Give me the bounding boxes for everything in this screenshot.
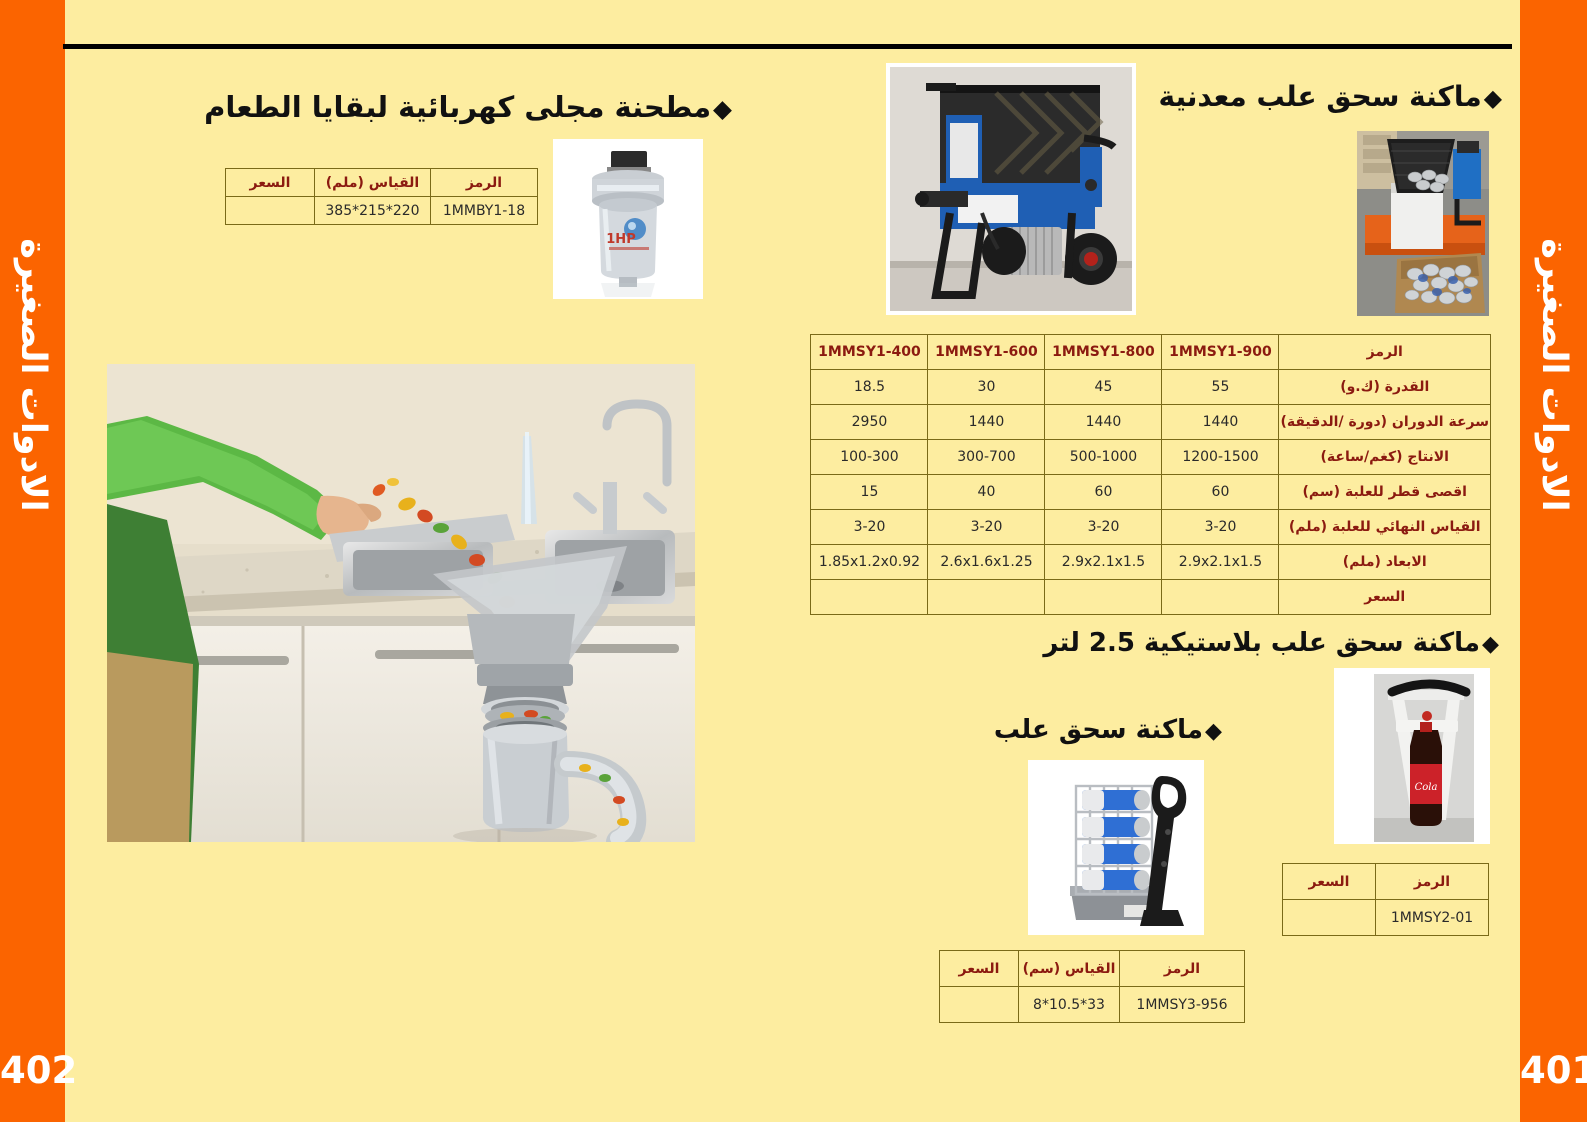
catalog-page: الادوات الصغيرة 402 الادوات الصغيرة 401 … xyxy=(0,0,1587,1122)
bullet-diamond-icon-3: ◆ xyxy=(1205,718,1222,744)
table-row: 1MMSY2-01 xyxy=(1283,900,1489,936)
bullet-diamond-icon-4: ◆ xyxy=(713,94,732,123)
table-row: الابعاد (ملم)2.9x2.1x1.52.9x2.1x1.52.6x1… xyxy=(811,545,1491,580)
row-label: القياس النهائي للعلبة (ملم) xyxy=(1279,510,1491,545)
table-cell: 500-1000 xyxy=(1045,440,1162,475)
row-label: القدرة (ك.و) xyxy=(1279,370,1491,405)
heading-plastic-bottle-crusher-text: ماكنة سحق علب بلاستيكية 2.5 لتر xyxy=(1043,628,1480,658)
table-header-row: الرمزالقياس (سم)السعر xyxy=(940,951,1245,987)
row-label: الانتاج (كغم/ساعة) xyxy=(1279,440,1491,475)
photo-can-crusher-manual xyxy=(1028,760,1204,935)
heading-can-crusher-manual: ◆ماكنة سحق علب xyxy=(994,715,1222,745)
table-cell xyxy=(940,987,1019,1023)
table-cell xyxy=(1162,580,1279,615)
table-cell: 300-700 xyxy=(928,440,1045,475)
column-header: الرمز xyxy=(431,169,538,197)
table-cell: 2950 xyxy=(811,405,928,440)
heading-food-waste-disposer-text: مطحنة مجلى كهربائية لبقايا الطعام xyxy=(204,90,711,124)
svg-text:1HP: 1HP xyxy=(606,232,635,247)
table-cell xyxy=(226,197,315,225)
photo-food-waste-disposer-unit: 1HP xyxy=(553,139,703,299)
table-cell: 1MMSY2-01 xyxy=(1376,900,1489,936)
column-header: 1MMSY1-900 xyxy=(1162,335,1279,370)
table-row: القياس النهائي للعلبة (ملم)3-203-203-203… xyxy=(811,510,1491,545)
table-cell xyxy=(811,580,928,615)
table-cell: 3-20 xyxy=(928,510,1045,545)
table-header-row: الرمزالسعر xyxy=(1283,864,1489,900)
heading-food-waste-disposer: ◆مطحنة مجلى كهربائية لبقايا الطعام xyxy=(204,90,732,124)
table-row: سرعة الدوران (دورة /الدقيقة)144014401440… xyxy=(811,405,1491,440)
table-cell: 1440 xyxy=(928,405,1045,440)
sidebar-category-label-right: الادوات الصغيرة xyxy=(1534,238,1574,511)
row-label: سرعة الدوران (دورة /الدقيقة) xyxy=(1279,405,1491,440)
column-header: 1MMSY1-800 xyxy=(1045,335,1162,370)
table-cell: 1MMSY3-956 xyxy=(1120,987,1245,1023)
column-header: القياس (سم) xyxy=(1019,951,1120,987)
column-header: القياس (ملم) xyxy=(315,169,431,197)
row-label: الرمز xyxy=(1279,335,1491,370)
table-cell: 30 xyxy=(928,370,1045,405)
svg-text:Cola: Cola xyxy=(1415,782,1438,793)
sidebar-category-label-left: الادوات الصغيرة xyxy=(13,238,53,511)
table-row: السعر xyxy=(811,580,1491,615)
table-cell: 60 xyxy=(1045,475,1162,510)
table-cell: 2.9x2.1x1.5 xyxy=(1162,545,1279,580)
table-plastic-bottle-crusher-specs: الرمزالسعر1MMSY2-01 xyxy=(1282,863,1489,936)
table-can-crusher-manual-specs: الرمزالقياس (سم)السعر1MMSY3-95633*10.5*8 xyxy=(939,950,1245,1023)
column-header: السعر xyxy=(226,169,315,197)
heading-can-crusher-manual-text: ماكنة سحق علب xyxy=(994,715,1203,745)
sidebar-right: الادوات الصغيرة 401 xyxy=(1520,0,1587,1122)
photo-crushed-cans-workshop xyxy=(1357,131,1489,316)
table-cell xyxy=(1045,580,1162,615)
table-cell: 1440 xyxy=(1045,405,1162,440)
table-cell: 55 xyxy=(1162,370,1279,405)
photo-metal-can-crusher-machine xyxy=(886,63,1136,315)
header-divider xyxy=(63,44,1512,49)
table-row: 1MMSY3-95633*10.5*8 xyxy=(940,987,1245,1023)
heading-metal-can-crusher-text: ماكنة سحق علب معدنية xyxy=(1159,80,1482,113)
table-cell: 3-20 xyxy=(1045,510,1162,545)
row-label: الابعاد (ملم) xyxy=(1279,545,1491,580)
column-header: 1MMSY1-400 xyxy=(811,335,928,370)
row-label: اقصى قطر للعلبة (سم) xyxy=(1279,475,1491,510)
table-row: القدرة (ك.و)55453018.5 xyxy=(811,370,1491,405)
table-cell: 3-20 xyxy=(1162,510,1279,545)
column-header: 1MMSY1-600 xyxy=(928,335,1045,370)
table-cell xyxy=(1283,900,1376,936)
table-cell: 18.5 xyxy=(811,370,928,405)
table-cell: 40 xyxy=(928,475,1045,510)
table-header-row: الرمزالقياس (ملم)السعر xyxy=(226,169,538,197)
column-header: الرمز xyxy=(1120,951,1245,987)
photo-kitchen-sink-disposer-installation xyxy=(107,364,695,842)
table-metal-can-crusher-specs: الرمز1MMSY1-9001MMSY1-8001MMSY1-6001MMSY… xyxy=(810,334,1491,615)
column-header: الرمز xyxy=(1376,864,1489,900)
page-number-right: 401 xyxy=(1520,1049,1587,1092)
heading-metal-can-crusher: ◆ماكنة سحق علب معدنية xyxy=(1159,80,1503,113)
heading-plastic-bottle-crusher: ◆ماكنة سحق علب بلاستيكية 2.5 لتر xyxy=(1043,628,1499,658)
table-cell: 220*215*385 xyxy=(315,197,431,225)
table-cell xyxy=(928,580,1045,615)
table-row: اقصى قطر للعلبة (سم)60604015 xyxy=(811,475,1491,510)
table-cell: 33*10.5*8 xyxy=(1019,987,1120,1023)
column-header: السعر xyxy=(1283,864,1376,900)
table-cell: 15 xyxy=(811,475,928,510)
table-cell: 100-300 xyxy=(811,440,928,475)
table-cell: 45 xyxy=(1045,370,1162,405)
bullet-diamond-icon: ◆ xyxy=(1484,84,1502,112)
table-cell: 2.9x2.1x1.5 xyxy=(1045,545,1162,580)
table-row: الانتاج (كغم/ساعة)1200-1500500-1000300-7… xyxy=(811,440,1491,475)
bullet-diamond-icon-2: ◆ xyxy=(1482,631,1499,657)
table-cell: 1200-1500 xyxy=(1162,440,1279,475)
table-cell: 1440 xyxy=(1162,405,1279,440)
table-row: 1MMBY1-18220*215*385 xyxy=(226,197,538,225)
photo-plastic-bottle-crusher: Cola xyxy=(1334,668,1490,844)
table-cell: 2.6x1.6x1.25 xyxy=(928,545,1045,580)
table-cell: 3-20 xyxy=(811,510,928,545)
sidebar-left: الادوات الصغيرة 402 xyxy=(0,0,65,1122)
table-cell: 1.85x1.2x0.92 xyxy=(811,545,928,580)
page-number-left: 402 xyxy=(0,1049,65,1092)
row-label: السعر xyxy=(1279,580,1491,615)
column-header: السعر xyxy=(940,951,1019,987)
table-cell: 60 xyxy=(1162,475,1279,510)
table-food-waste-disposer-specs: الرمزالقياس (ملم)السعر1MMBY1-18220*215*3… xyxy=(225,168,538,225)
table-cell: 1MMBY1-18 xyxy=(431,197,538,225)
table-header-row: الرمز1MMSY1-9001MMSY1-8001MMSY1-6001MMSY… xyxy=(811,335,1491,370)
